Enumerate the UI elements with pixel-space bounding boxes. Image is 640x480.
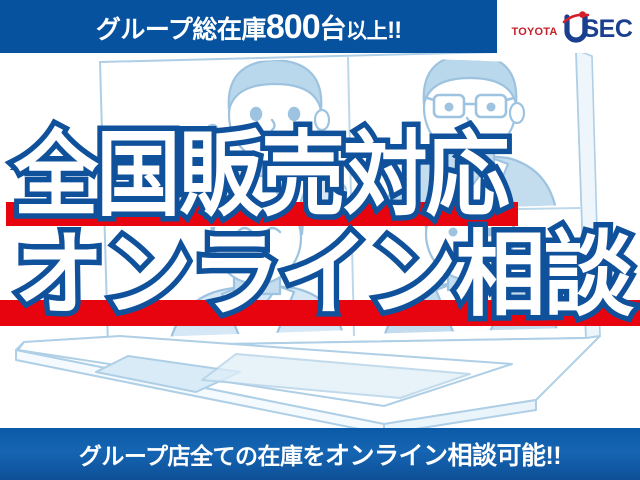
bottom-banner-exclamation: !! — [545, 442, 561, 470]
bottom-banner: グループ店全ての在庫をオンライン相談可能!! — [0, 428, 640, 480]
top-banner-unit: 台 — [320, 16, 347, 43]
red-underline-bar-1 — [6, 202, 518, 226]
red-underline-bar-2 — [0, 300, 640, 326]
logo-sec-text: SEC — [583, 15, 633, 44]
toyota-usec-logo: TOYOTA SEC — [505, 7, 633, 47]
bottom-banner-part-a: グループ店全ての在庫を — [79, 443, 325, 469]
top-banner-part-a: グループ総在庫 — [96, 18, 266, 43]
logo-toyota-text: TOYOTA — [512, 26, 558, 38]
top-banner-exclamation: !! — [387, 19, 401, 43]
top-banner: グループ総在庫800台以上!! — [0, 0, 497, 53]
top-banner-stock-count: 800 — [266, 10, 320, 44]
top-banner-suffix: 以上 — [346, 21, 387, 42]
top-banner-text: グループ総在庫800台以上!! — [96, 10, 401, 44]
ad-banner-root: 全国販売対応 オンライン相談 グループ総在庫800台以上!! TOYOTA SE… — [0, 0, 640, 480]
bottom-banner-part-b: オンライン相談可能 — [325, 442, 546, 470]
logo-panel: TOYOTA SEC — [497, 0, 640, 53]
bottom-banner-text: グループ店全ての在庫をオンライン相談可能!! — [79, 436, 561, 472]
background-illustration — [0, 0, 640, 480]
